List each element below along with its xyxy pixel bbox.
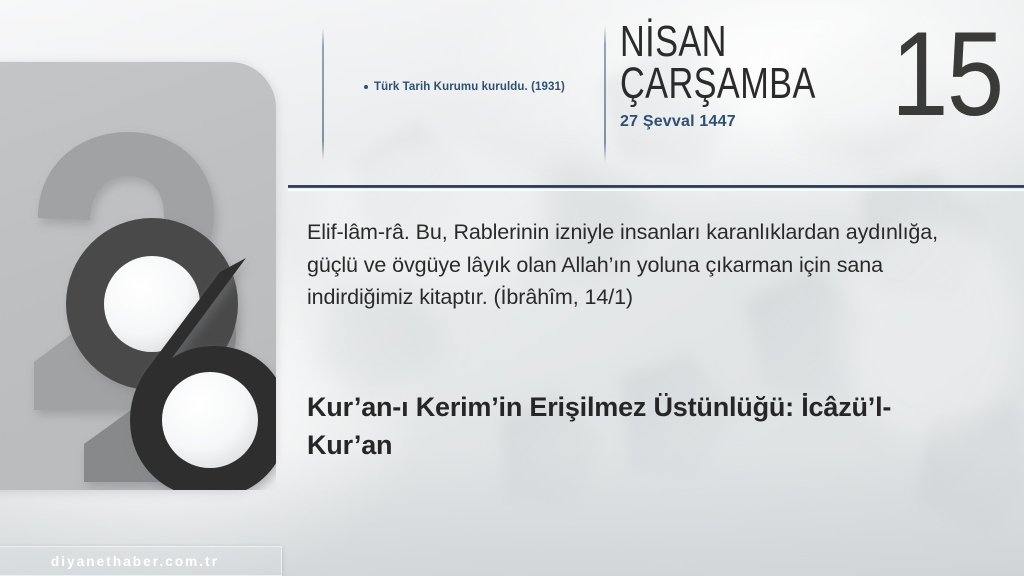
historical-note-text: Türk Tarih Kurumu kuruldu. (1931) <box>374 80 565 96</box>
bullet-dot-icon <box>364 85 368 89</box>
historical-note: Türk Tarih Kurumu kuruldu. (1931) <box>364 80 584 96</box>
month-label: NİSAN <box>620 22 807 62</box>
main-divider-highlight <box>288 189 1024 191</box>
website-url: diyanethaber.com.tr <box>51 554 219 569</box>
weekday-label: ÇARŞAMBA <box>620 62 807 107</box>
day-number: 15 <box>891 14 1002 134</box>
logo-card <box>0 62 276 490</box>
header-divider-left <box>322 28 324 160</box>
main-divider <box>288 185 1024 188</box>
website-footer-bar[interactable]: diyanethaber.com.tr <box>0 546 282 576</box>
year-2026-logo-icon <box>0 62 276 490</box>
hijri-date-label: 27 Şevval 1447 <box>620 113 860 131</box>
article-title: Kur’an-ı Kerim’in Erişilmez Üstünlüğü: İ… <box>307 388 947 465</box>
calendar-page: Türk Tarih Kurumu kuruldu. (1931) NİSAN … <box>0 0 1024 576</box>
header-divider-right <box>604 26 606 162</box>
date-block: NİSAN ÇARŞAMBA 27 Şevval 1447 <box>620 22 860 131</box>
verse-text: Elif-lâm-râ. Bu, Rablerinin izniyle insa… <box>307 216 967 314</box>
